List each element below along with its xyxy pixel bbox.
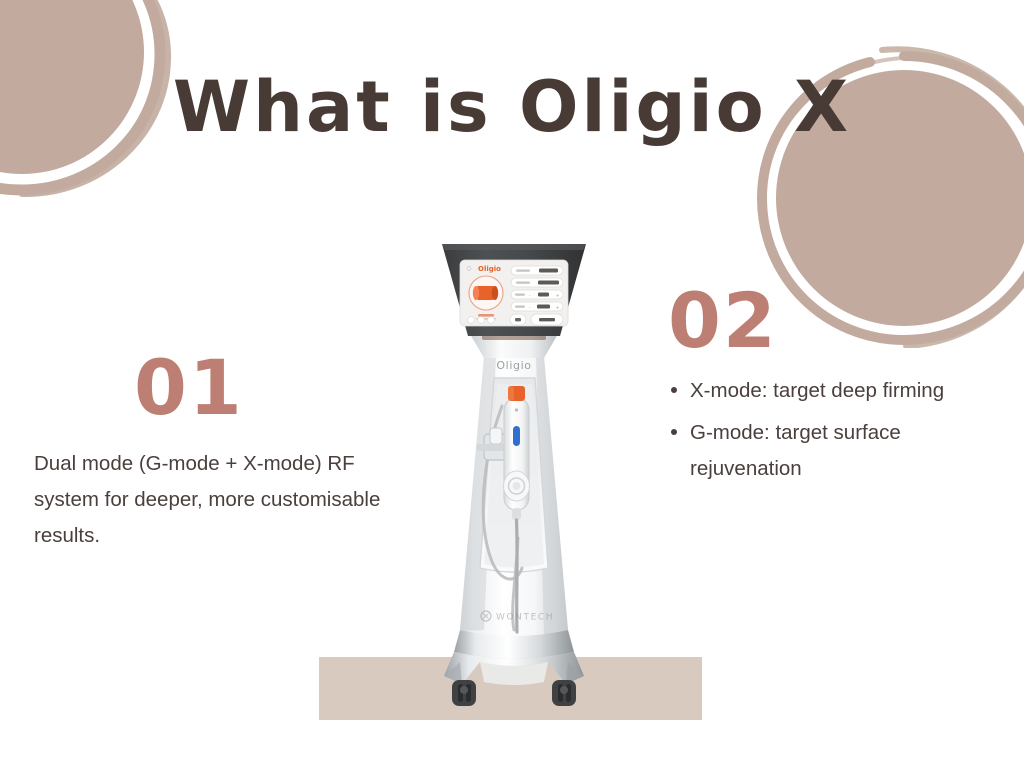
block-bullet-list-02: X-mode: target deep firming G-mode: targ… (668, 373, 1016, 487)
block-number-02: 02 (668, 283, 1016, 359)
block-number-01: 01 (134, 350, 424, 426)
svg-text:Oligio: Oligio (478, 265, 501, 273)
bullet-dot-icon (671, 387, 677, 393)
list-item-label: G-mode: target surface rejuvenation (690, 421, 901, 480)
bullet-dot-icon (671, 429, 677, 435)
list-item: G-mode: target surface rejuvenation (668, 415, 1016, 487)
svg-text:+: + (556, 293, 559, 298)
feature-block-02: 02 X-mode: target deep firming G-mode: t… (668, 283, 1016, 493)
oligio-device-illustration: Oligio - (398, 238, 630, 716)
svg-text:+: + (556, 305, 559, 310)
slide-root: What is Oligio X (0, 0, 1024, 768)
list-item-label: X-mode: target deep firming (690, 379, 944, 402)
svg-text:WONTECH: WONTECH (496, 613, 554, 623)
block-paragraph-01: Dual mode (G-mode + X-mode) RF system fo… (34, 446, 424, 554)
list-item: X-mode: target deep firming (668, 373, 1016, 409)
svg-text:Oligio: Oligio (496, 359, 531, 372)
page-title: What is Oligio X (0, 72, 1024, 142)
feature-block-01: 01 Dual mode (G-mode + X-mode) RF system… (34, 350, 424, 554)
